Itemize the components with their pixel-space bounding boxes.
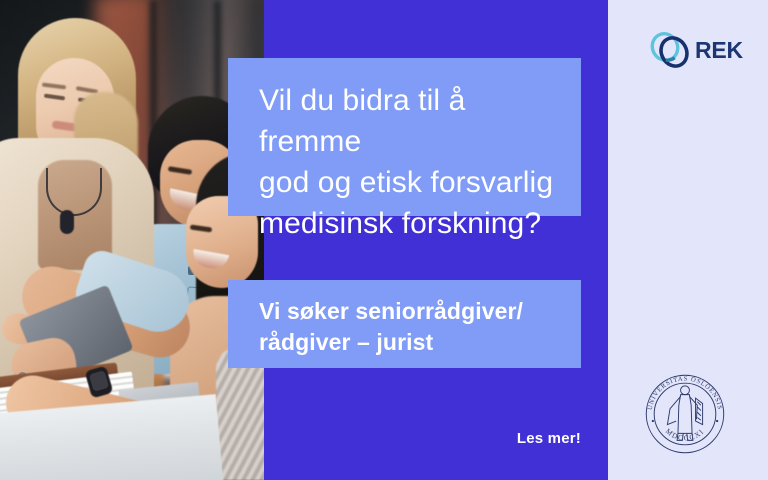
seal-year: MDCCCXI (664, 426, 706, 442)
uio-apollo-seal-icon: UNIVERSITAS OSLOENSIS MDCCCXI (641, 370, 729, 458)
rek-wordmark: REK (695, 37, 743, 64)
read-more-link[interactable]: Les mer! (380, 430, 581, 447)
recruitment-banner: Vil du bidra til å fremme god og etisk f… (0, 0, 768, 480)
job-title-text: Vi søker seniorrådgiver/ rådgiver – juri… (259, 296, 557, 358)
job-title-box: Vi søker seniorrådgiver/ rådgiver – juri… (228, 280, 581, 368)
pendant (60, 210, 74, 234)
headline-text: Vil du bidra til å fremme god og etisk f… (259, 80, 555, 244)
rek-interlocking-rings-icon (648, 28, 694, 72)
team-photo (0, 0, 264, 480)
headline-box: Vil du bidra til å fremme god og etisk f… (228, 58, 581, 216)
rek-logo[interactable]: REK (648, 27, 744, 73)
seal-motto: UNIVERSITAS OSLOENSIS (647, 376, 723, 411)
